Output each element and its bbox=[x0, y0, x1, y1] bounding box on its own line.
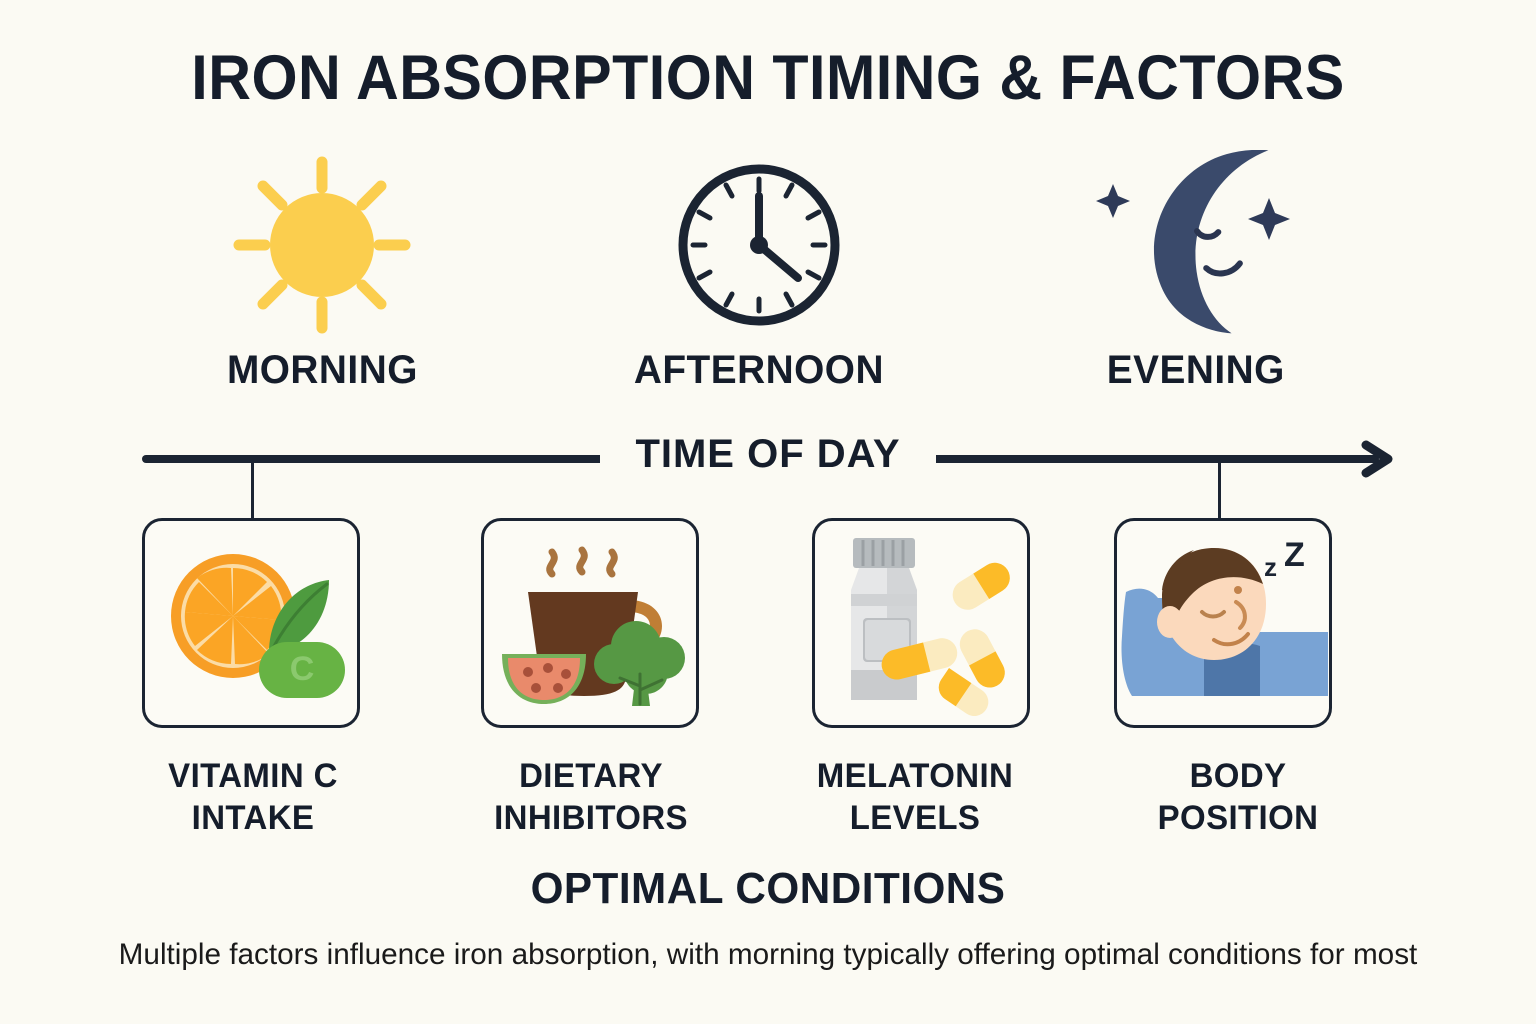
factor-card-label-vitamin-c: VITAMIN C INTAKE bbox=[127, 755, 379, 839]
clock-icon bbox=[664, 150, 854, 340]
time-period-afternoon: AFTERNOON bbox=[541, 150, 978, 400]
timeline-caption: TIME OF DAY bbox=[600, 428, 936, 483]
time-period-label-morning: MORNING bbox=[227, 348, 418, 393]
factor-label-line1: DIETARY bbox=[465, 755, 717, 797]
capsule-letter: C bbox=[290, 650, 315, 688]
factor-label-line2: INHIBITORS bbox=[465, 797, 717, 839]
factor-label-line1: BODY bbox=[1112, 755, 1364, 797]
sun-icon bbox=[227, 150, 417, 340]
connector-stem-vitamin-c bbox=[251, 458, 254, 520]
sleep-letter-small: z bbox=[1264, 552, 1277, 582]
arrow-head-icon bbox=[1360, 439, 1396, 479]
crescent-moon-icon bbox=[1091, 150, 1301, 340]
factor-label-line2: POSITION bbox=[1112, 797, 1364, 839]
factor-card-label-melatonin-levels: MELATONIN LEVELS bbox=[789, 755, 1041, 839]
time-of-day-row: MORNING bbox=[104, 150, 1414, 400]
factor-label-line1: MELATONIN bbox=[789, 755, 1041, 797]
optimal-conditions-heading: OPTIMAL CONDITIONS bbox=[31, 864, 1506, 914]
factor-card-label-dietary-inhibitors: DIETARY INHIBITORS bbox=[465, 755, 717, 839]
time-period-label-evening: EVENING bbox=[1107, 348, 1285, 393]
factor-card-label-body-position: BODY POSITION bbox=[1112, 755, 1364, 839]
sleeping-person-icon: z Z bbox=[1118, 528, 1328, 718]
factor-cards-row: C bbox=[142, 518, 1332, 730]
sleep-letter-large: Z bbox=[1284, 536, 1305, 574]
connector-stem-body-position bbox=[1218, 458, 1221, 520]
factor-card-dietary-inhibitors[interactable] bbox=[481, 518, 699, 728]
infographic-canvas: IRON ABSORPTION TIMING & FACTORS bbox=[0, 0, 1536, 1024]
factor-card-body-position[interactable]: z Z bbox=[1114, 518, 1332, 728]
time-period-evening: EVENING bbox=[977, 150, 1414, 400]
time-period-morning: MORNING bbox=[104, 150, 541, 400]
factor-card-melatonin-levels[interactable] bbox=[812, 518, 1030, 728]
footnote-text: Multiple factors influence iron absorpti… bbox=[8, 938, 1529, 972]
factor-label-line2: INTAKE bbox=[127, 797, 379, 839]
time-period-label-afternoon: AFTERNOON bbox=[634, 348, 884, 393]
factor-card-vitamin-c[interactable]: C bbox=[142, 518, 360, 728]
orange-slice-vitamin-c-icon: C bbox=[151, 528, 351, 718]
page-title: IRON ABSORPTION TIMING & FACTORS bbox=[46, 42, 1490, 114]
coffee-cup-vegetables-icon bbox=[490, 528, 690, 718]
factor-label-line2: LEVELS bbox=[789, 797, 1041, 839]
factor-label-line1: VITAMIN C bbox=[127, 755, 379, 797]
supplement-bottle-capsules-icon bbox=[821, 528, 1021, 718]
